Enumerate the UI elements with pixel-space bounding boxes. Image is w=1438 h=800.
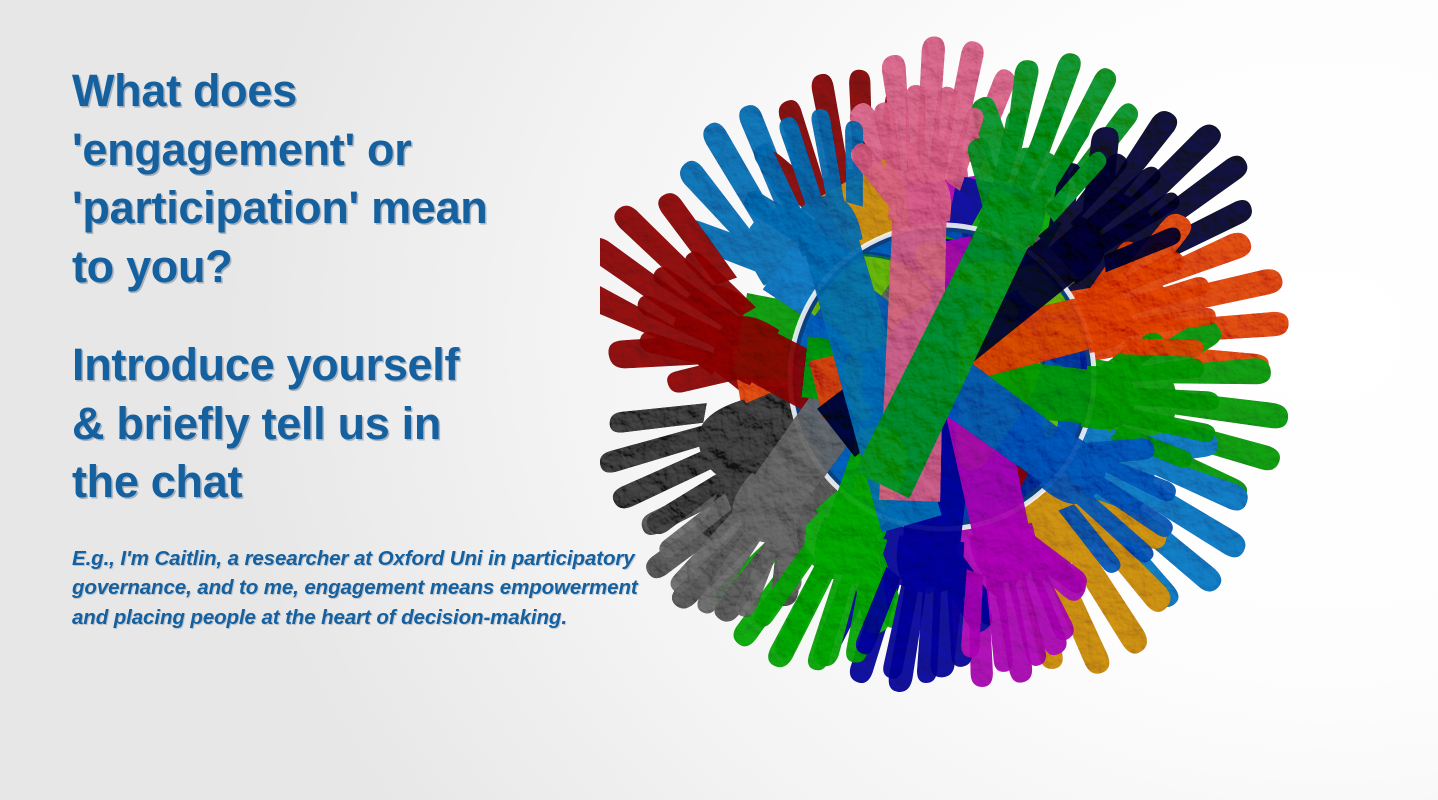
- example-answer-text: E.g., I'm Caitlin, a researcher at Oxfor…: [72, 544, 672, 634]
- page-title-question: What does 'engagement' or 'participation…: [72, 62, 672, 296]
- text-column: What does 'engagement' or 'participation…: [72, 62, 672, 633]
- page-title-instruction: Introduce yourself & briefly tell us in …: [72, 336, 672, 512]
- slide-canvas: What does 'engagement' or 'participation…: [0, 0, 1438, 800]
- hands-around-globe-illustration: [600, 0, 1438, 800]
